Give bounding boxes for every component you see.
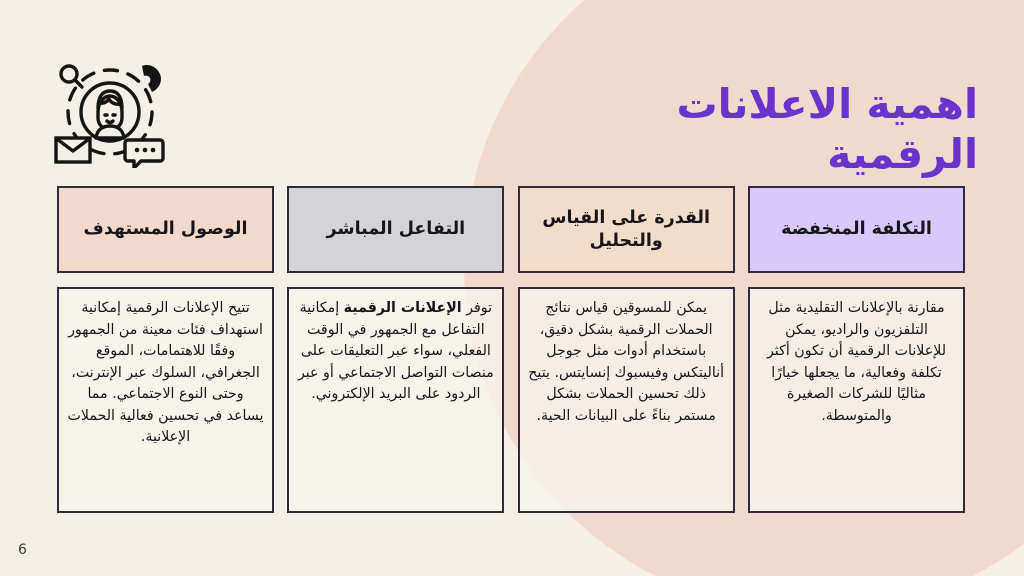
phone-icon bbox=[142, 65, 161, 92]
column-header-direct-interaction: التفاعل المباشر bbox=[287, 186, 504, 273]
feature-column-4: التكلفة المنخفضة مقارنة بالإعلانات التقل… bbox=[748, 186, 965, 513]
column-body-measurability: يمكن للمسوقين قياس نتائج الحملات الرقمية… bbox=[518, 287, 735, 513]
column-header-measurability: القدرة على القياس والتحليل bbox=[518, 186, 735, 273]
feature-column-3: القدرة على القياس والتحليل يمكن للمسوقين… bbox=[518, 186, 735, 513]
feature-column-1: الوصول المستهدف تتيح الإعلانات الرقمية إ… bbox=[57, 186, 274, 513]
audience-engagement-icon bbox=[52, 56, 168, 168]
column-header-targeted-reach: الوصول المستهدف bbox=[57, 186, 274, 273]
feature-columns: الوصول المستهدف تتيح الإعلانات الرقمية إ… bbox=[57, 186, 965, 513]
column-body-low-cost: مقارنة بالإعلانات التقليدية مثل التلفزيو… bbox=[748, 287, 965, 513]
column-body-direct-interaction: توفر الإعلانات الرقمية إمكانية التفاعل م… bbox=[287, 287, 504, 513]
page-number: 6 bbox=[18, 542, 27, 558]
slide-canvas: اهمية الاعلانات الرقمية الوصول المستهدف … bbox=[0, 0, 1024, 576]
column-body-targeted-reach: تتيح الإعلانات الرقمية إمكانية استهداف ف… bbox=[57, 287, 274, 513]
feature-column-2: التفاعل المباشر توفر الإعلانات الرقمية إ… bbox=[287, 186, 504, 513]
chat-bubble-icon bbox=[125, 140, 163, 168]
page-title: اهمية الاعلانات الرقمية bbox=[548, 79, 978, 179]
envelope-icon bbox=[56, 138, 90, 162]
column-header-low-cost: التكلفة المنخفضة bbox=[748, 186, 965, 273]
